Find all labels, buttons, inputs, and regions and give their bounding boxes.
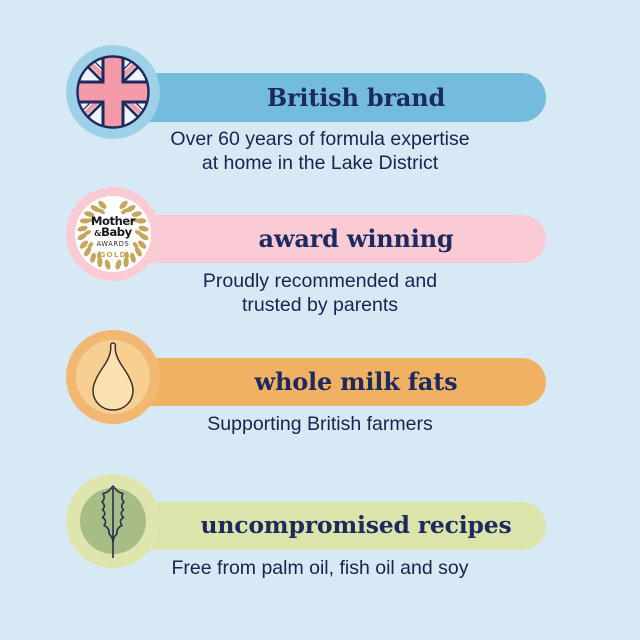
badge-tier-label: GOLD xyxy=(75,251,151,258)
caption-line-1: Over 60 years of formula expertise xyxy=(0,127,640,151)
feature-title: British brand xyxy=(267,86,445,110)
union-jack-flag-icon xyxy=(66,45,160,139)
badge-brand-line-2: &Baby xyxy=(75,227,151,239)
feature-caption: Supporting British farmers xyxy=(0,412,640,436)
feature-caption: Free from palm oil, fish oil and soy xyxy=(0,556,640,580)
feature-caption: Proudly recommended and trusted by paren… xyxy=(0,269,640,317)
mother-and-baby-gold-award-badge-icon: Mother &Baby AWARDS GOLD xyxy=(66,187,160,281)
infographic-board: British brand xyxy=(0,0,640,640)
badge-baby-word: Baby xyxy=(101,225,132,239)
feature-title: uncompromised recipes xyxy=(200,514,511,538)
caption-line-2: at home in the Lake District xyxy=(0,151,640,175)
milk-droplet-icon xyxy=(66,330,160,424)
award-badge-inner: Mother &Baby AWARDS GOLD xyxy=(75,196,151,272)
feature-title: whole milk fats xyxy=(255,370,458,394)
badge-awards-label: AWARDS xyxy=(75,241,151,248)
caption-line-1: Supporting British farmers xyxy=(0,412,640,436)
caption-line-1: Proudly recommended and xyxy=(0,269,640,293)
feature-pill-award-winning: award winning xyxy=(100,215,546,263)
feature-caption: Over 60 years of formula expertise at ho… xyxy=(0,127,640,175)
feature-pill-uncompromised-recipes: uncompromised recipes xyxy=(100,502,546,550)
feature-title: award winning xyxy=(259,227,454,251)
feature-pill-whole-milk-fats: whole milk fats xyxy=(100,358,546,406)
feature-pill-british-brand: British brand xyxy=(100,73,546,122)
caption-line-2: trusted by parents xyxy=(0,293,640,317)
leaf-icon xyxy=(66,474,160,568)
caption-line-1: Free from palm oil, fish oil and soy xyxy=(0,556,640,580)
